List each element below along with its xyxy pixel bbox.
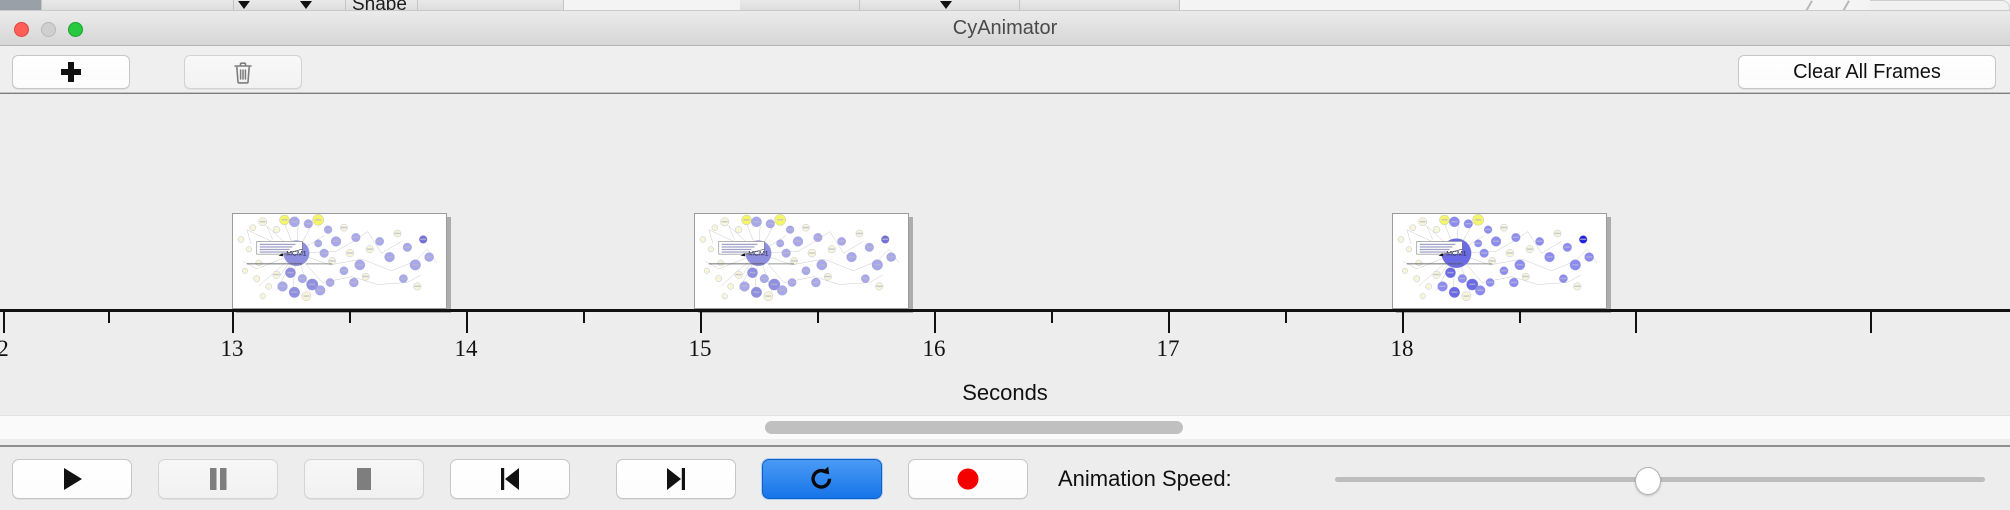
title-bar[interactable]: CyAnimator xyxy=(0,11,2010,46)
loop-button[interactable] xyxy=(762,459,882,499)
ruler-tick-major xyxy=(466,312,468,333)
plus-icon xyxy=(61,62,81,82)
clear-all-frames-button[interactable]: Clear All Frames xyxy=(1738,55,1996,89)
ruler-tick-minor xyxy=(108,312,110,323)
toolbar: Clear All Frames xyxy=(0,46,2010,93)
ruler-tick-minor xyxy=(349,312,351,323)
ruler-tick-label: 15 xyxy=(689,336,712,362)
animation-speed-label: Animation Speed: xyxy=(1058,459,1232,499)
ruler-baseline xyxy=(0,309,2010,312)
timeline-frame[interactable]: MCM1 xyxy=(232,213,447,309)
play-button[interactable] xyxy=(12,459,132,499)
timeline-scrollbar[interactable] xyxy=(0,415,2010,439)
svg-text:MCM1: MCM1 xyxy=(748,251,769,258)
ruler-tick-minor xyxy=(583,312,585,323)
bg-window-corner xyxy=(1870,0,2010,11)
pause-button[interactable] xyxy=(158,459,278,499)
ruler-tick-label: 2 xyxy=(0,336,9,362)
skip-back-icon xyxy=(497,466,523,492)
bg-triangle-icon xyxy=(238,1,250,9)
ruler-tick-label: 13 xyxy=(221,336,244,362)
ruler-tick-minor xyxy=(817,312,819,323)
ruler-tick-minor xyxy=(1285,312,1287,323)
ruler-tick-minor xyxy=(1519,312,1521,323)
bg-slash-icon xyxy=(1842,0,1850,11)
bg-slash-icon xyxy=(1805,0,1813,11)
record-icon xyxy=(955,466,981,492)
bg-chip xyxy=(42,0,234,11)
delete-frame-button[interactable] xyxy=(184,55,302,89)
timeline-frame[interactable]: MCM1 xyxy=(694,213,909,309)
ruler-tick-major xyxy=(700,312,702,333)
ruler-tick-major xyxy=(3,312,5,333)
record-button[interactable] xyxy=(908,459,1028,499)
skip-forward-icon xyxy=(663,466,689,492)
clear-all-frames-label: Clear All Frames xyxy=(1793,61,1941,84)
cyanimator-window: Shape CyAnimator Clear All Frames MCM1M xyxy=(0,0,2010,510)
ruler-tick-major xyxy=(1168,312,1170,333)
bg-chip xyxy=(0,0,42,11)
skip-back-button[interactable] xyxy=(450,459,570,499)
stop-button[interactable] xyxy=(304,459,424,499)
svg-text:MCM1: MCM1 xyxy=(286,251,307,258)
window-title: CyAnimator xyxy=(0,11,2010,46)
ruler-tick-major xyxy=(1870,312,1872,333)
timeline-frame[interactable]: MCM1 xyxy=(1392,213,1607,309)
animation-speed-slider[interactable] xyxy=(1335,459,1985,499)
ruler-tick-major xyxy=(1402,312,1404,333)
background-window-strip: Shape xyxy=(0,0,2010,11)
ruler-tick-label: 14 xyxy=(455,336,478,362)
timeline-panel: MCM1MCM1MCM1 2131415161718 Seconds xyxy=(0,93,2010,445)
ruler-tick-label: 18 xyxy=(1391,336,1414,362)
scrollbar-thumb[interactable] xyxy=(765,421,1183,434)
loop-icon xyxy=(808,465,836,493)
bg-triangle-icon xyxy=(300,1,312,9)
stop-icon xyxy=(352,466,376,492)
ruler-tick-label: 17 xyxy=(1157,336,1180,362)
background-shape-label: Shape xyxy=(352,0,407,11)
ruler-tick-label: 16 xyxy=(923,336,946,362)
bg-chip xyxy=(418,0,564,11)
add-frame-button[interactable] xyxy=(12,55,130,89)
pause-icon xyxy=(206,466,230,492)
ruler-tick-minor xyxy=(1635,312,1637,323)
play-icon xyxy=(59,465,85,493)
frames-track[interactable]: MCM1MCM1MCM1 xyxy=(0,94,2010,309)
ruler-axis-title: Seconds xyxy=(0,380,2010,406)
playback-bar: Animation Speed: xyxy=(0,445,2010,510)
trash-icon xyxy=(233,61,253,84)
bg-chip xyxy=(740,0,860,11)
timeline-ruler[interactable]: 2131415161718 Seconds xyxy=(0,309,2010,409)
ruler-tick-minor xyxy=(1051,312,1053,323)
skip-forward-button[interactable] xyxy=(616,459,736,499)
bg-chip xyxy=(234,0,346,11)
slider-thumb[interactable] xyxy=(1635,467,1661,495)
bg-triangle-icon xyxy=(940,1,952,9)
ruler-tick-major xyxy=(232,312,234,333)
svg-text:MCM1: MCM1 xyxy=(1446,251,1467,258)
ruler-tick-major xyxy=(934,312,936,333)
bg-chip xyxy=(1020,0,1180,11)
